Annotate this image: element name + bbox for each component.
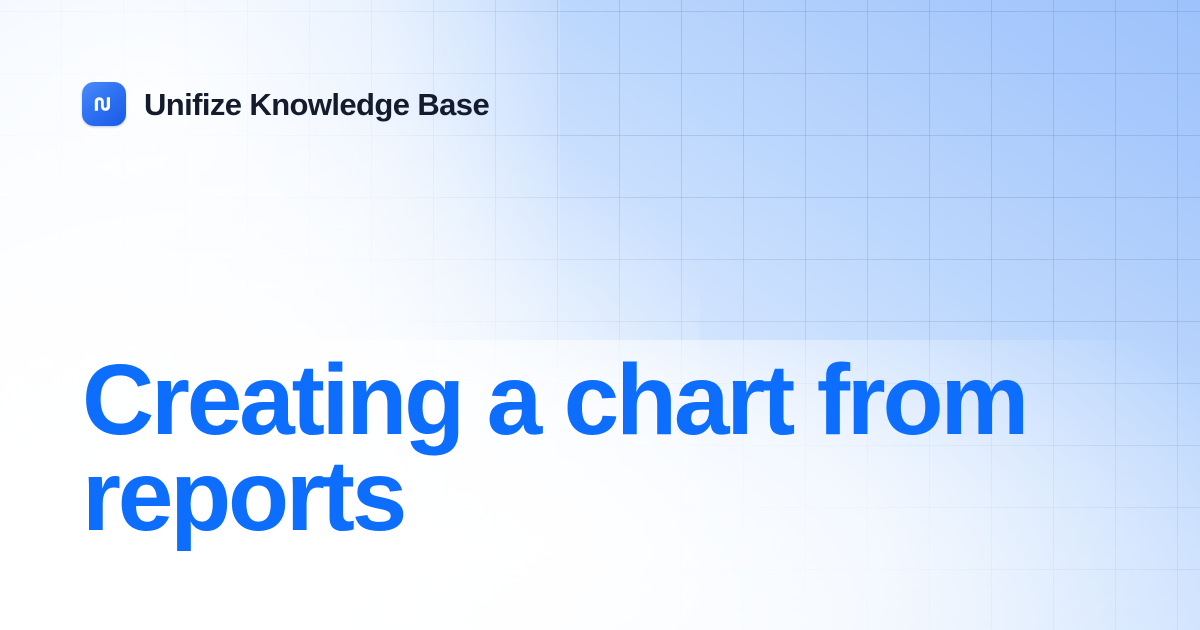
page-title: Creating a chart from reports xyxy=(82,352,1092,544)
brand-header: Unifize Knowledge Base xyxy=(82,82,489,126)
brand-name: Unifize Knowledge Base xyxy=(144,89,489,120)
unifize-s-logo-icon xyxy=(82,82,126,126)
og-card: Unifize Knowledge Base Creating a chart … xyxy=(0,0,1200,630)
